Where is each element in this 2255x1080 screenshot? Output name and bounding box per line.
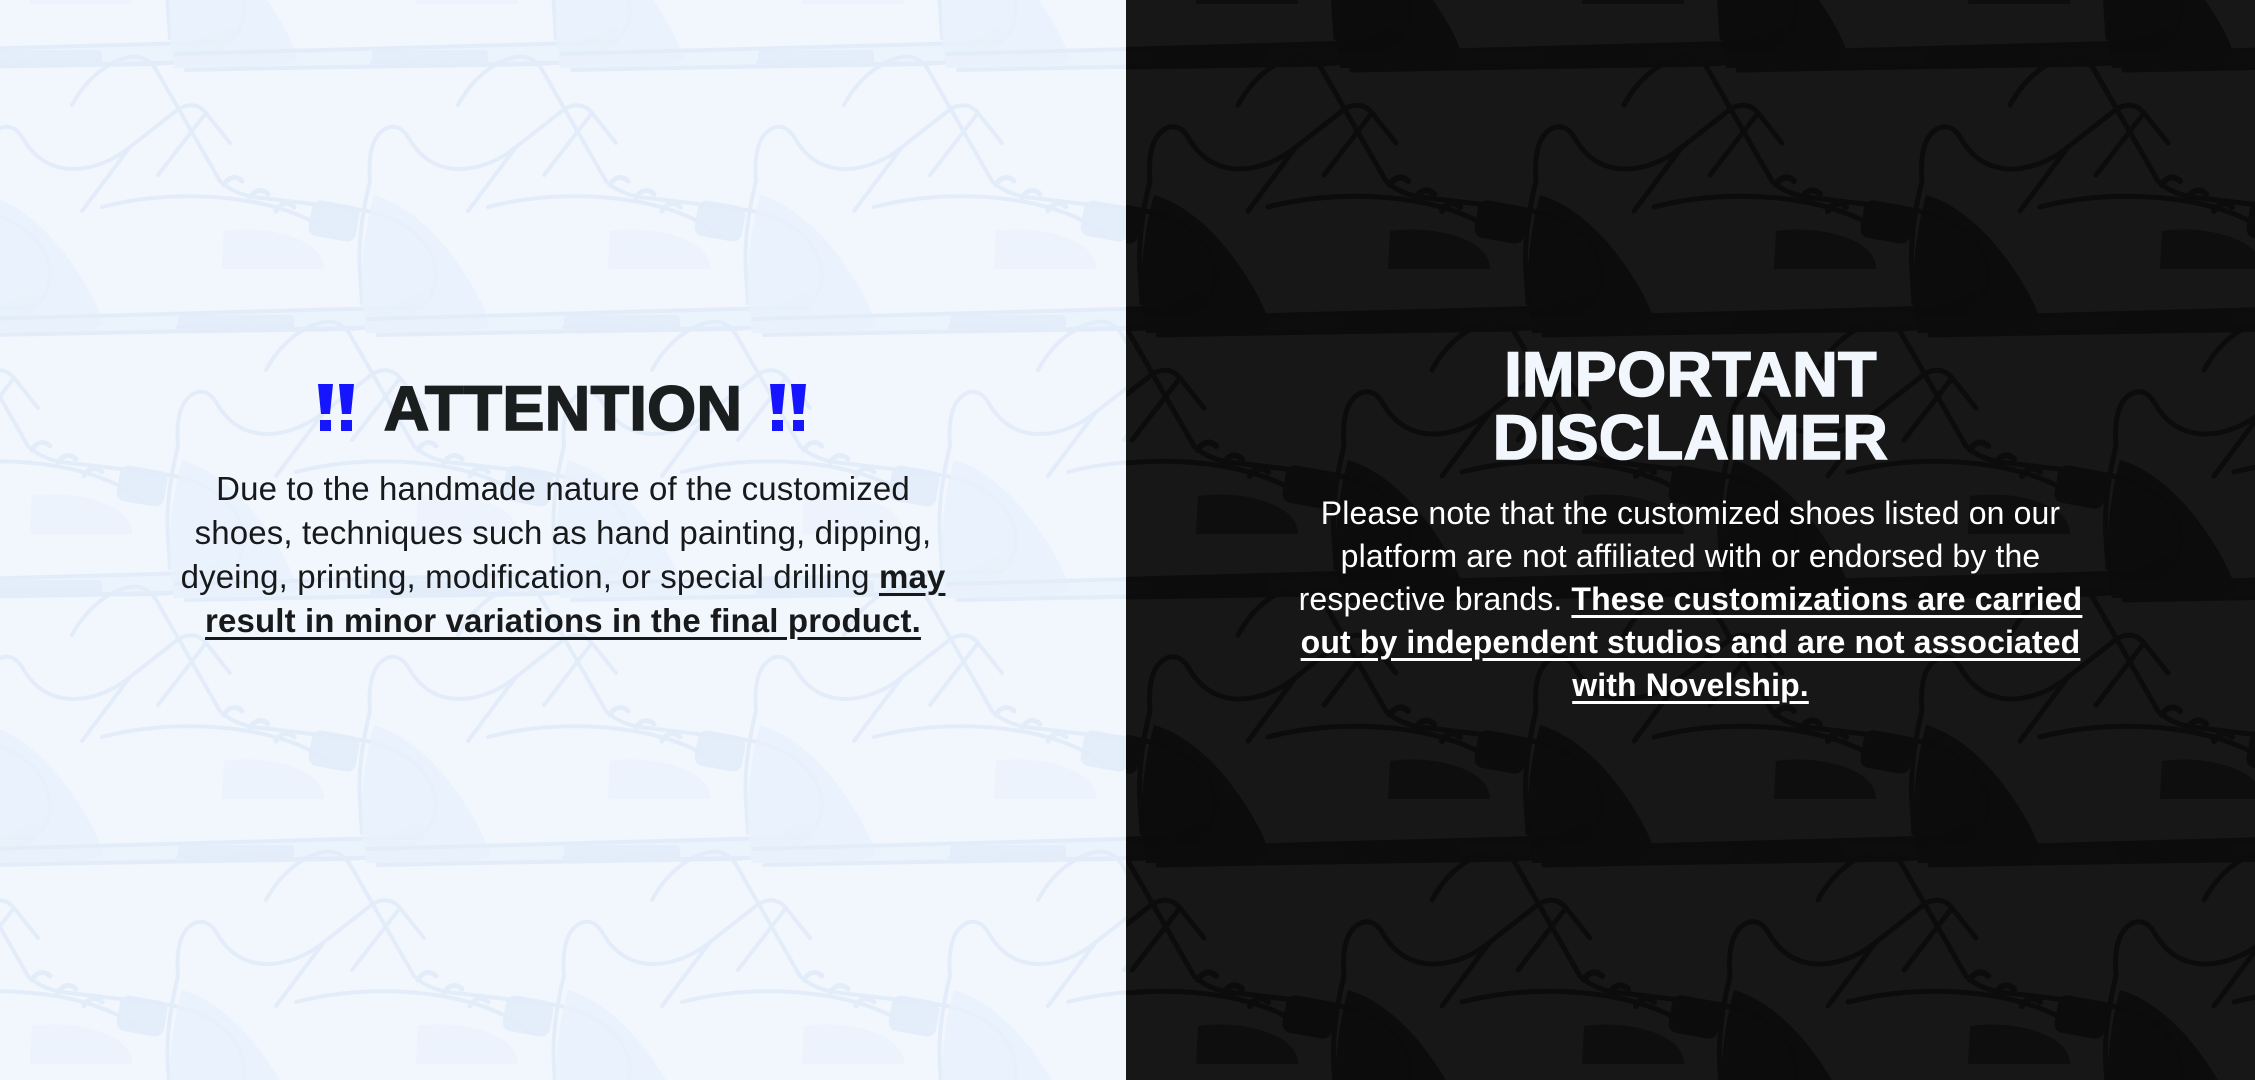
- disclaimer-heading: IMPORTANT DISCLAIMER: [1276, 344, 2106, 470]
- attention-heading-label: ATTENTION: [384, 377, 743, 441]
- attention-heading: ATTENTION: [163, 377, 963, 441]
- attention-content: ATTENTION Due to the handmade nature of …: [163, 377, 963, 643]
- disclaimer-panel: IMPORTANT DISCLAIMER Please note that th…: [1126, 0, 2255, 1080]
- disclaimer-heading-line2: DISCLAIMER: [1493, 403, 1888, 473]
- double-exclamation-left-icon: [316, 382, 358, 432]
- disclaimer-body: Please note that the customized shoes li…: [1276, 492, 2106, 707]
- attention-body-regular: Due to the handmade nature of the custom…: [181, 470, 932, 595]
- double-exclamation-right-icon: [768, 382, 810, 432]
- disclaimer-heading-line1: IMPORTANT: [1504, 340, 1877, 410]
- attention-body: Due to the handmade nature of the custom…: [163, 467, 963, 643]
- disclaimer-content: IMPORTANT DISCLAIMER Please note that th…: [1276, 344, 2106, 707]
- attention-panel: ATTENTION Due to the handmade nature of …: [0, 0, 1126, 1080]
- customization-notice-banner: ATTENTION Due to the handmade nature of …: [0, 0, 2255, 1080]
